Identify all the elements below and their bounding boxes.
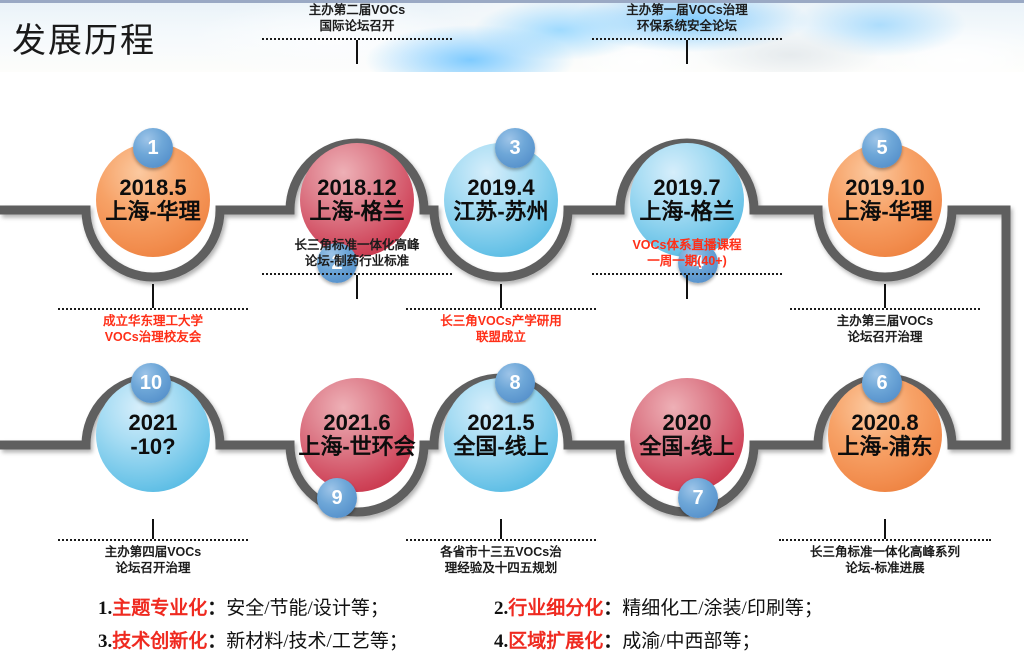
- badge-number: 3: [509, 137, 520, 160]
- caption-node-4: 主办第一届VOCs治理 环保系统安全论坛: [577, 3, 797, 64]
- caption-dashline: [406, 539, 596, 541]
- node-year: 2019.10: [845, 176, 925, 200]
- caption-stem: [883, 284, 887, 308]
- caption-line-1: VOCs体系直播课程: [577, 238, 797, 254]
- node-badge-9[interactable]: 9: [317, 478, 357, 518]
- summary-item-3: 3.技术创新化：新材料/技术/工艺等；: [98, 626, 408, 653]
- caption-stem: [151, 519, 155, 539]
- node-badge-5[interactable]: 5: [862, 128, 902, 168]
- node-place: 江苏-苏州: [453, 200, 548, 224]
- summary-keyword: 区域扩展化: [508, 631, 603, 652]
- summary-number: 2.: [494, 598, 508, 619]
- caption-line-1: 长三角标准一体化高峰: [247, 238, 467, 254]
- caption-node-7: VOCs体系直播课程 一周一期(40+): [577, 238, 797, 299]
- header-accent-bar: [0, 72, 986, 87]
- caption-line-2: 联盟成立: [391, 330, 611, 346]
- summary-item-2: 2.行业细分化：精细化工/涂装/印刷等；: [494, 593, 823, 620]
- node-badge-3[interactable]: 3: [495, 128, 535, 168]
- summary-separator: ：: [207, 631, 226, 652]
- timeline-node-7[interactable]: 2020 全国-线上: [630, 378, 744, 492]
- node-year: 2021.5: [467, 411, 534, 435]
- caption-dashline: [406, 308, 596, 310]
- caption-dashline: [779, 539, 991, 541]
- node-year: 2021: [129, 411, 178, 435]
- caption-line-1: 长三角VOCs产学研用: [391, 314, 611, 330]
- caption-line-2: 环保系统安全论坛: [577, 19, 797, 35]
- summary-item-4: 4.区域扩展化：成渝/中西部等；: [494, 626, 761, 653]
- caption-line-1: 主办第二届VOCs: [247, 3, 467, 19]
- header-top-rule: [0, 0, 1024, 3]
- caption-dashline: [58, 308, 248, 310]
- caption-line-2: 论坛-标准进展: [760, 561, 1010, 577]
- badge-number: 5: [876, 137, 887, 160]
- badge-number: 9: [331, 487, 342, 510]
- caption-stem: [685, 275, 689, 299]
- badge-number: 1: [147, 137, 158, 160]
- summary-value: 精细化工/涂装/印刷等；: [622, 598, 823, 619]
- caption-line-2: 一周一期(40+): [577, 254, 797, 270]
- node-year: 2020: [663, 411, 712, 435]
- badge-number: 8: [509, 372, 520, 395]
- caption-line-1: 成立华东理工大学: [43, 314, 263, 330]
- timeline-node-9[interactable]: 2021.6 上海-世环会: [300, 378, 414, 492]
- caption-stem: [499, 284, 503, 308]
- summary-value: 安全/节能/设计等；: [226, 598, 389, 619]
- summary-keyword: 技术创新化: [112, 631, 207, 652]
- node-badge-6[interactable]: 6: [862, 363, 902, 403]
- node-place: -10?: [130, 435, 175, 459]
- summary-keyword: 行业细分化: [508, 598, 603, 619]
- node-badge-1[interactable]: 1: [133, 128, 173, 168]
- caption-line-1: 主办第一届VOCs治理: [577, 3, 797, 19]
- caption-line-1: 长三角标准一体化高峰系列: [760, 545, 1010, 561]
- page-title: 发展历程: [12, 13, 156, 62]
- node-place: 上海-华理: [837, 200, 932, 224]
- node-year: 2019.7: [653, 176, 720, 200]
- badge-number: 6: [876, 372, 887, 395]
- caption-line-2: VOCs治理校友会: [43, 330, 263, 346]
- summary-separator: ：: [207, 598, 226, 619]
- summary-separator: ：: [603, 598, 622, 619]
- caption-line-2: 论坛召开治理: [43, 561, 263, 577]
- caption-dashline: [58, 539, 248, 541]
- summary-number: 3.: [98, 631, 112, 652]
- caption-line-2: 论坛召开治理: [775, 330, 995, 346]
- node-year: 2020.8: [851, 411, 918, 435]
- summary-value: 新材料/技术/工艺等；: [226, 631, 408, 652]
- node-place: 全国-线上: [639, 435, 734, 459]
- summary-number: 1.: [98, 598, 112, 619]
- summary-separator: ：: [603, 631, 622, 652]
- summary-value: 成渝/中西部等；: [622, 631, 760, 652]
- node-year: 2018.12: [317, 176, 397, 200]
- caption-stem: [685, 40, 689, 64]
- caption-line-1: 主办第三届VOCs: [775, 314, 995, 330]
- node-year: 2018.5: [119, 176, 186, 200]
- caption-node-1: 成立华东理工大学 VOCs治理校友会: [43, 284, 263, 345]
- node-place: 上海-世环会: [298, 435, 415, 459]
- node-place: 上海-浦东: [837, 435, 932, 459]
- caption-line-2: 理经验及十四五规划: [391, 561, 611, 577]
- caption-stem: [355, 275, 359, 299]
- summary-item-1: 1.主题专业化：安全/节能/设计等；: [98, 593, 389, 620]
- caption-line-1: 各省市十三五VOCs治: [391, 545, 611, 561]
- summary-keyword: 主题专业化: [112, 598, 207, 619]
- caption-dashline: [790, 308, 980, 310]
- caption-line-2: 国际论坛召开: [247, 19, 467, 35]
- node-place: 全国-线上: [453, 435, 548, 459]
- caption-stem: [355, 40, 359, 64]
- node-year: 2021.6: [323, 411, 390, 435]
- caption-stem: [883, 519, 887, 539]
- summary-block: 1.主题专业化：安全/节能/设计等； 2.行业细分化：精细化工/涂装/印刷等； …: [0, 588, 1024, 659]
- caption-line-1: 主办第四届VOCs: [43, 545, 263, 561]
- caption-node-6: 长三角标准一体化高峰系列 论坛-标准进展: [760, 519, 1010, 576]
- caption-node-10: 主办第四届VOCs 论坛召开治理: [43, 519, 263, 576]
- node-badge-10[interactable]: 10: [131, 363, 171, 403]
- node-year: 2019.4: [467, 176, 534, 200]
- node-badge-8[interactable]: 8: [495, 363, 535, 403]
- caption-stem: [499, 519, 503, 539]
- caption-line-2: 论坛-制药行业标准: [247, 254, 467, 270]
- node-place: 上海-格兰: [639, 200, 734, 224]
- badge-number: 10: [140, 372, 162, 395]
- caption-node-8: 各省市十三五VOCs治 理经验及十四五规划: [391, 519, 611, 576]
- timeline-board: 2018.5 上海-华理 1 2018.12 上海-格兰 2 2019.4 江苏…: [0, 87, 1024, 582]
- caption-stem: [151, 284, 155, 308]
- caption-node-9: 长三角标准一体化高峰 论坛-制药行业标准: [247, 238, 467, 299]
- node-badge-7[interactable]: 7: [678, 478, 718, 518]
- badge-number: 7: [692, 487, 703, 510]
- node-place: 上海-格兰: [309, 200, 404, 224]
- caption-node-5: 主办第三届VOCs 论坛召开治理: [775, 284, 995, 345]
- caption-node-2: 主办第二届VOCs 国际论坛召开: [247, 3, 467, 64]
- node-place: 上海-华理: [105, 200, 200, 224]
- summary-number: 4.: [494, 631, 508, 652]
